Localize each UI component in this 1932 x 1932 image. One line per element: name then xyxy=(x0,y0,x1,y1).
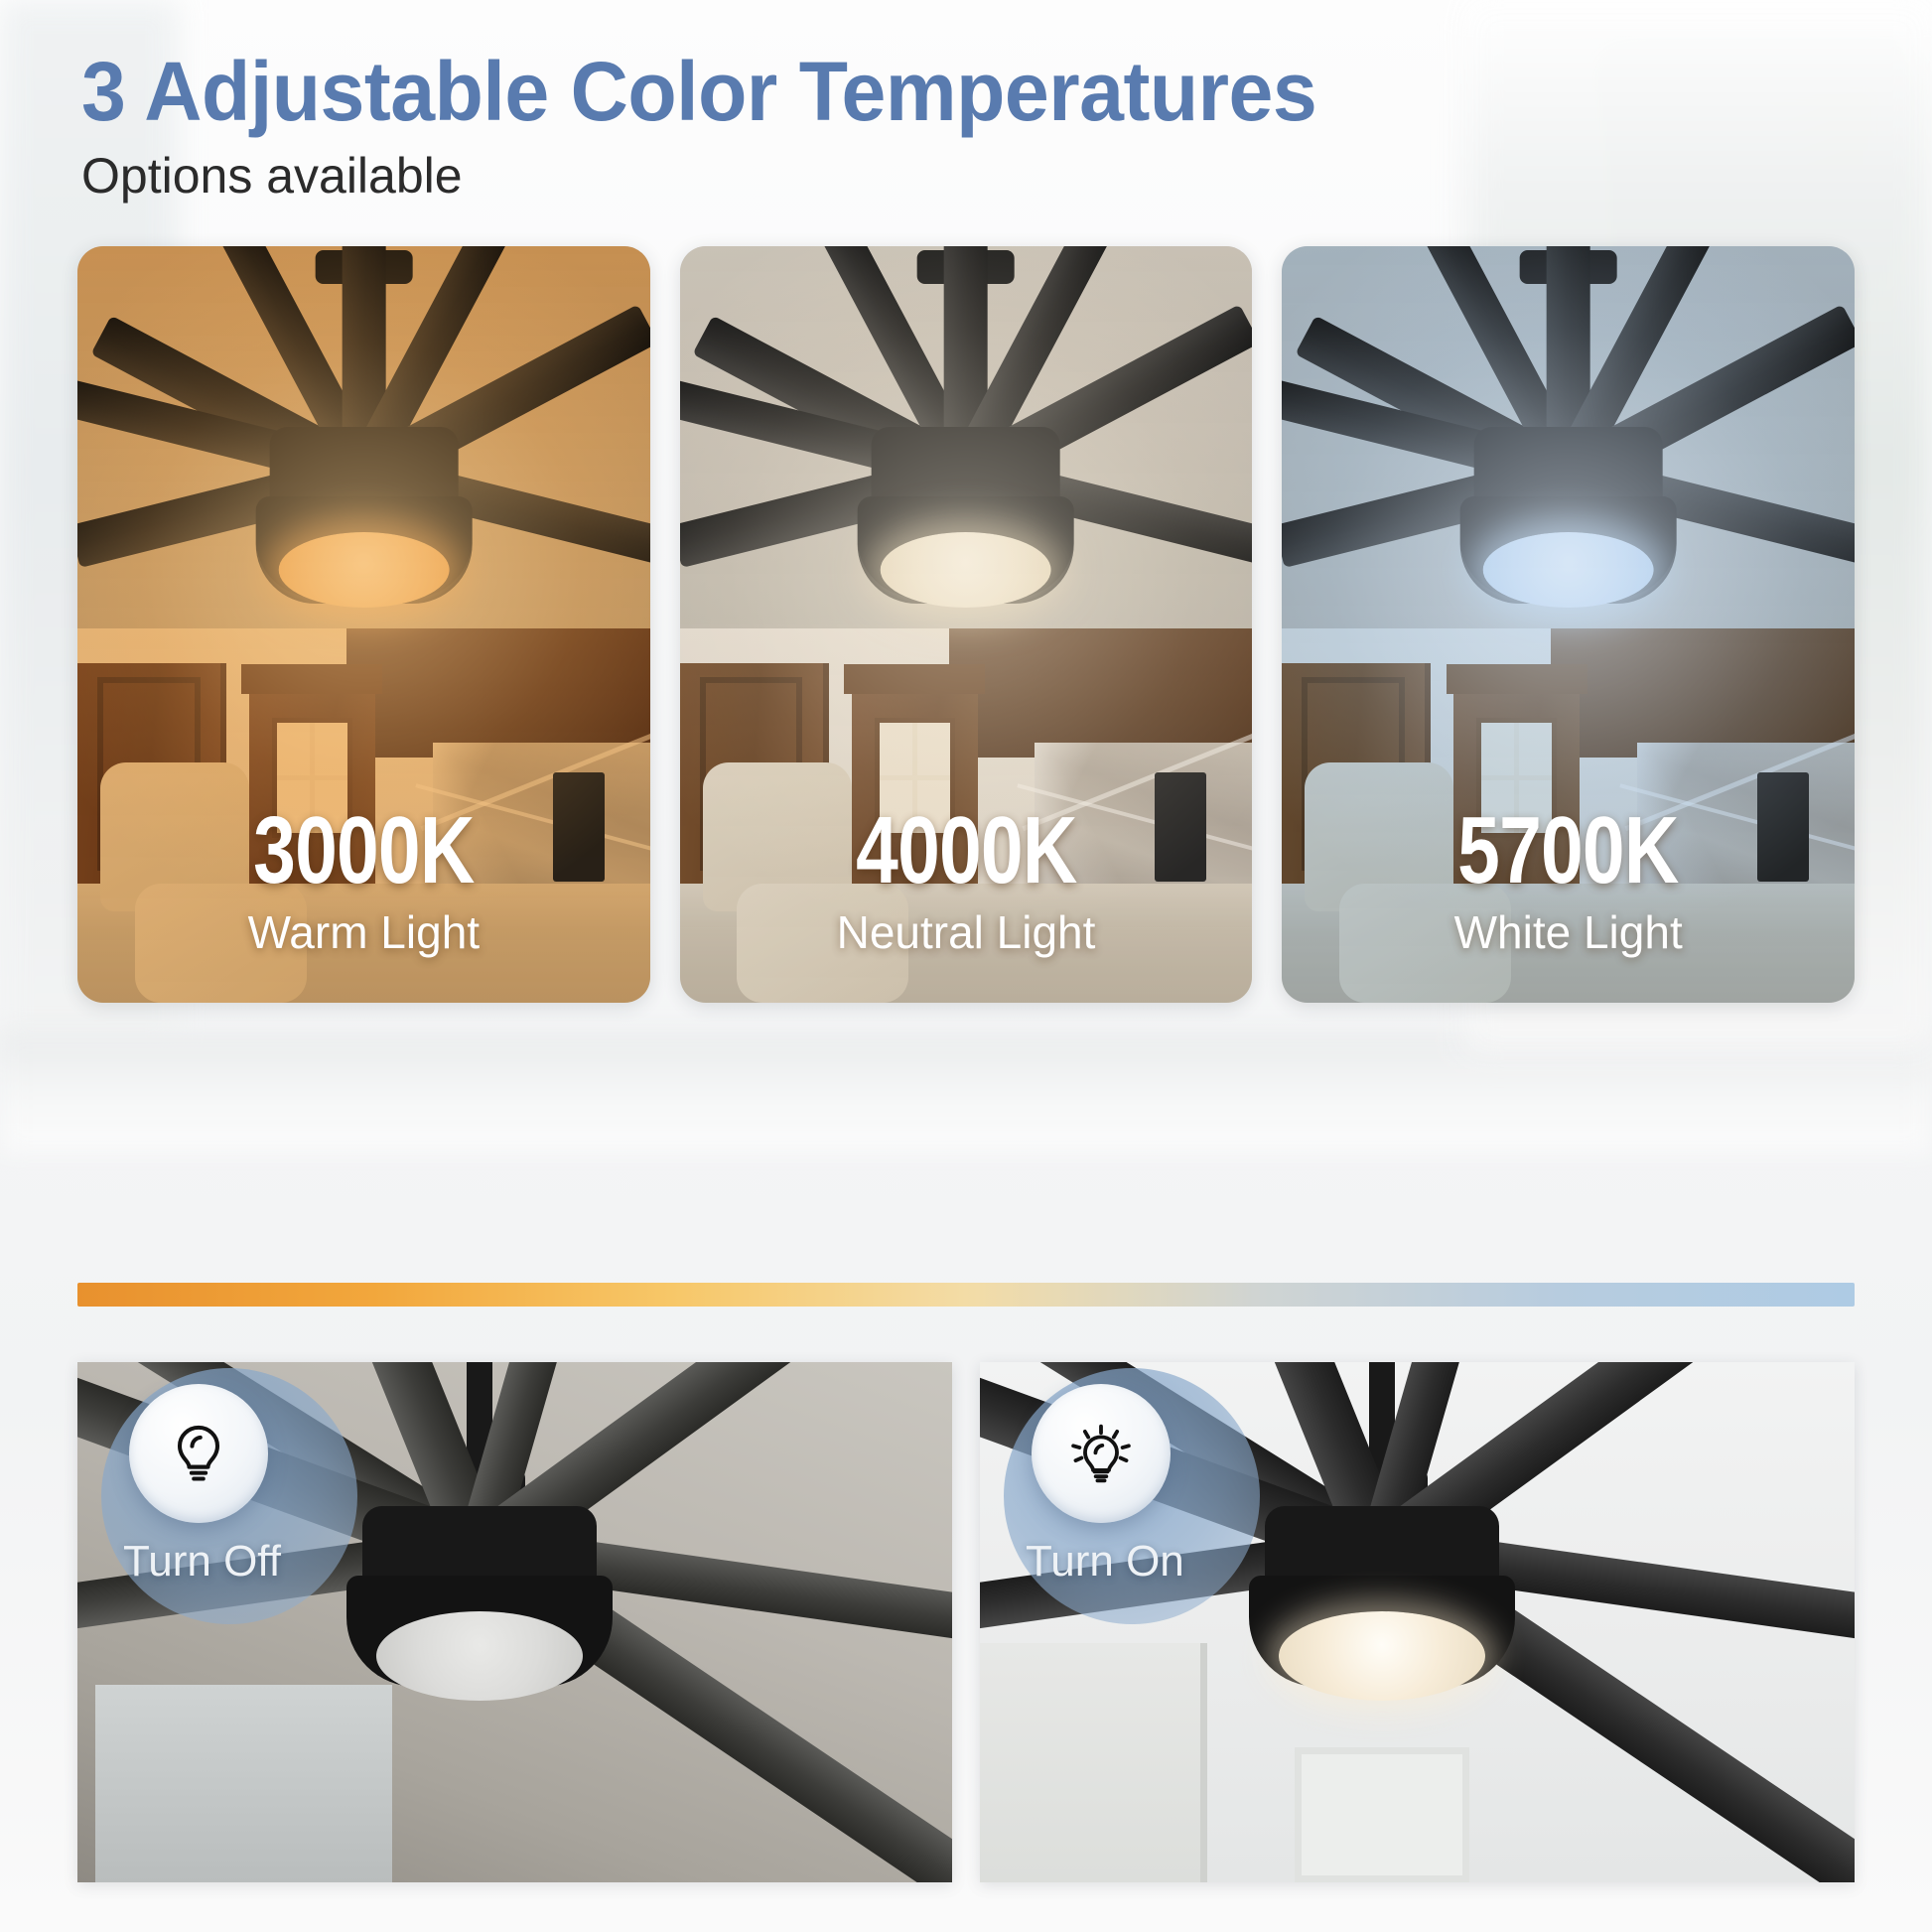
turn-off-panel[interactable]: Turn Off xyxy=(77,1362,952,1882)
color-temperature-card-row: 3000K Warm Light xyxy=(77,246,1855,1003)
kelvin-value: 4000K xyxy=(737,804,1194,897)
lightbulb-off-icon xyxy=(161,1416,236,1491)
page-title: 3 Adjustable Color Temperatures xyxy=(81,48,1778,135)
fan-led-light xyxy=(1279,1611,1485,1701)
cabinet-door xyxy=(980,1643,1207,1882)
background-floor xyxy=(0,1033,1932,1152)
doorway xyxy=(95,1685,393,1882)
card-caption: 4000K Neutral Light xyxy=(680,804,1253,959)
card-caption: 5700K White Light xyxy=(1282,804,1855,959)
turn-on-panel[interactable]: Turn On xyxy=(980,1362,1855,1882)
turn-off-label: Turn Off xyxy=(123,1537,281,1587)
color-temperature-card-4000k[interactable]: 4000K Neutral Light xyxy=(680,246,1253,1003)
color-temperature-card-5700k[interactable]: 5700K White Light xyxy=(1282,246,1855,1003)
doorway xyxy=(1295,1747,1469,1882)
light-name: White Light xyxy=(1282,905,1855,959)
color-temperature-card-3000k[interactable]: 3000K Warm Light xyxy=(77,246,650,1003)
lightbulb-on-icon xyxy=(1063,1416,1139,1491)
kelvin-value: 3000K xyxy=(135,804,593,897)
light-name: Warm Light xyxy=(77,905,650,959)
turn-off-button[interactable] xyxy=(129,1384,268,1523)
fan-led-light xyxy=(376,1611,583,1701)
light-name: Neutral Light xyxy=(680,905,1253,959)
light-toggle-panel-row: Turn Off Turn On xyxy=(77,1362,1855,1882)
turn-on-label: Turn On xyxy=(1026,1537,1184,1587)
header: 3 Adjustable Color Temperatures Options … xyxy=(81,48,1849,204)
color-temperature-gradient-divider xyxy=(77,1283,1855,1307)
turn-on-button[interactable] xyxy=(1032,1384,1171,1523)
kelvin-value: 5700K xyxy=(1339,804,1797,897)
page-subtitle: Options available xyxy=(81,149,1849,204)
card-caption: 3000K Warm Light xyxy=(77,804,650,959)
